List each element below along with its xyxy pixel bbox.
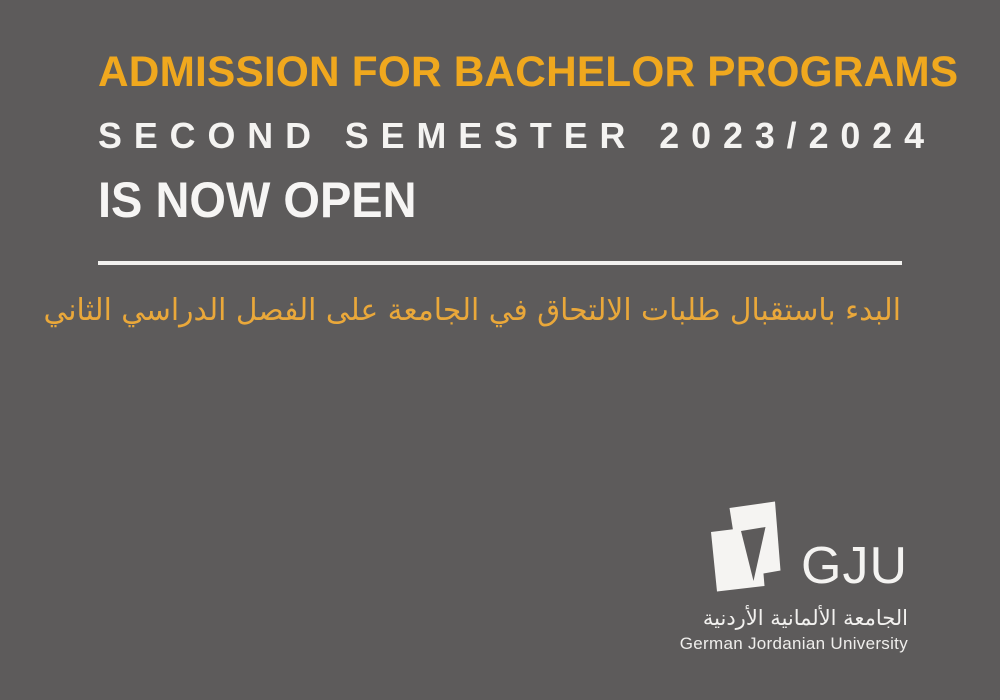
- arabic-subtitle: البدء باستقبال طلبات الالتحاق في الجامعة…: [102, 290, 901, 332]
- headline-status-line: IS NOW OPEN: [98, 172, 859, 228]
- university-name-english: German Jordanian University: [608, 633, 908, 655]
- gju-logo-lockup: GJU الجامعة الألمانية الأردنية German Jo…: [608, 498, 908, 655]
- university-name-arabic: الجامعة الألمانية الأردنية: [608, 604, 908, 632]
- admission-announcement-poster: ADMISSION FOR BACHELOR PROGRAMS SECOND S…: [0, 0, 1000, 700]
- headline-semester-line: SECOND SEMESTER 2023/2024: [98, 114, 904, 158]
- headline-admission-line: ADMISSION FOR BACHELOR PROGRAMS: [98, 48, 896, 96]
- logo-mark-row: GJU: [608, 498, 908, 594]
- horizontal-divider: [98, 261, 902, 265]
- gju-wordmark: GJU: [801, 540, 908, 594]
- gju-logo-mark-icon: [709, 498, 795, 594]
- headline-block: ADMISSION FOR BACHELOR PROGRAMS SECOND S…: [98, 48, 908, 228]
